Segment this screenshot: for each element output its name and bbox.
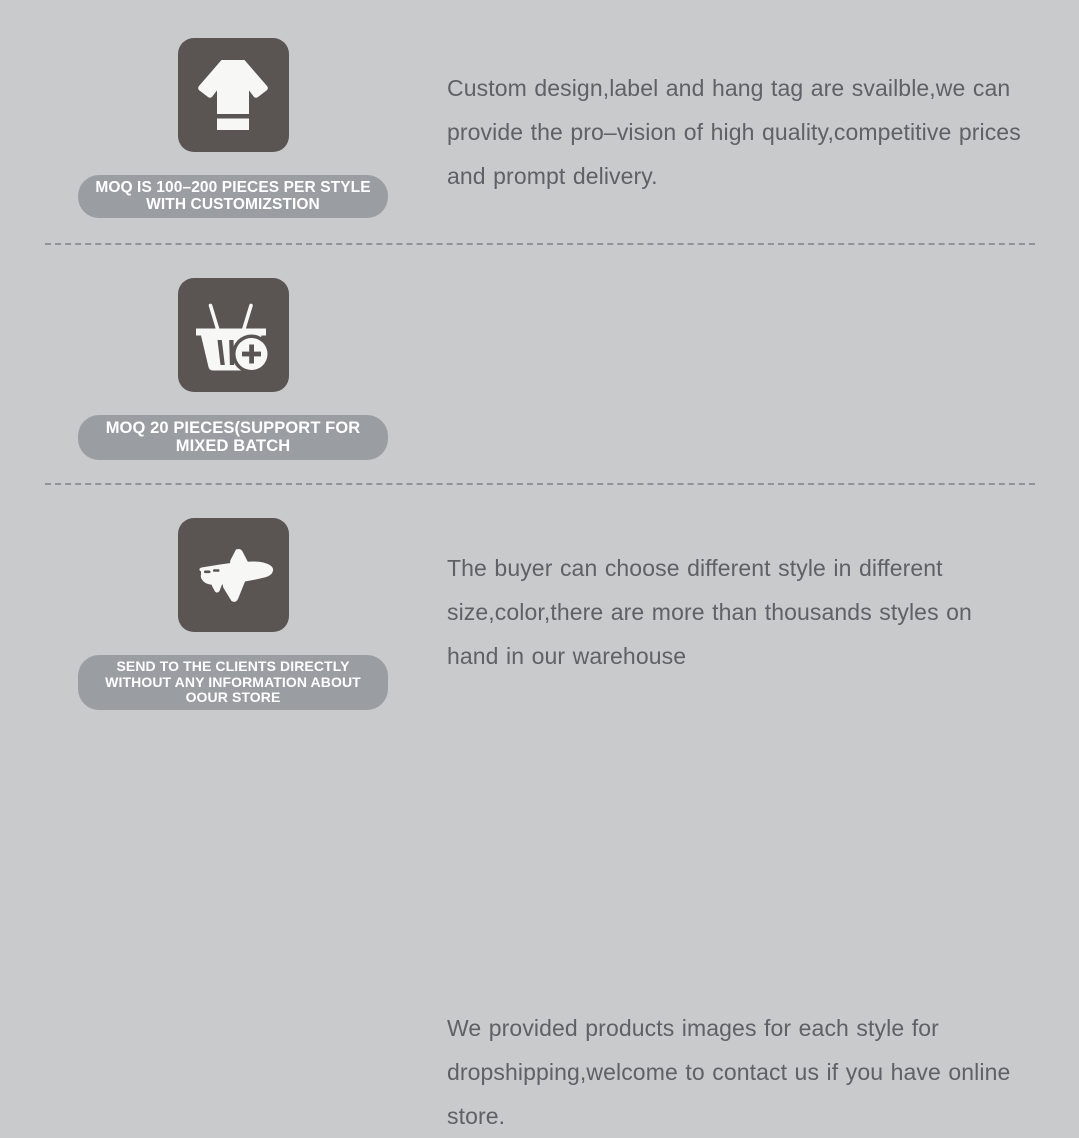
tshirt-icon (195, 58, 271, 132)
airplane-icon-tile (178, 518, 289, 632)
shopping-basket-add-icon (193, 297, 273, 373)
feature-description: Custom design,label and hang tag are sva… (447, 66, 1027, 198)
feature-pill-label: MOQ IS 100–200 PIECES PER STYLE WITH CUS… (78, 175, 388, 218)
feature-row: MOQ IS 100–200 PIECES PER STYLE WITH CUS… (0, 18, 1079, 236)
section-divider (45, 243, 1035, 245)
feature-description: We provided products images for each sty… (447, 1006, 1027, 1138)
feature-left-column: SEND TO THE CLIENTS DIRECTLY WITHOUT ANY… (78, 498, 388, 710)
feature-row: MOQ 20 PIECES(SUPPORT FOR MIXED BATCH Th… (0, 258, 1079, 476)
feature-left-column: MOQ 20 PIECES(SUPPORT FOR MIXED BATCH (78, 258, 388, 460)
section-divider (45, 483, 1035, 485)
feature-pill-label: MOQ 20 PIECES(SUPPORT FOR MIXED BATCH (78, 415, 388, 460)
service-features-page: MOQ IS 100–200 PIECES PER STYLE WITH CUS… (0, 0, 1079, 734)
feature-left-column: MOQ IS 100–200 PIECES PER STYLE WITH CUS… (78, 18, 388, 218)
feature-pill-label: SEND TO THE CLIENTS DIRECTLY WITHOUT ANY… (78, 655, 388, 710)
tshirt-icon-tile (178, 38, 289, 152)
feature-row: SEND TO THE CLIENTS DIRECTLY WITHOUT ANY… (0, 498, 1079, 716)
airplane-icon (192, 545, 274, 605)
shopping-basket-add-icon-tile (178, 278, 289, 392)
